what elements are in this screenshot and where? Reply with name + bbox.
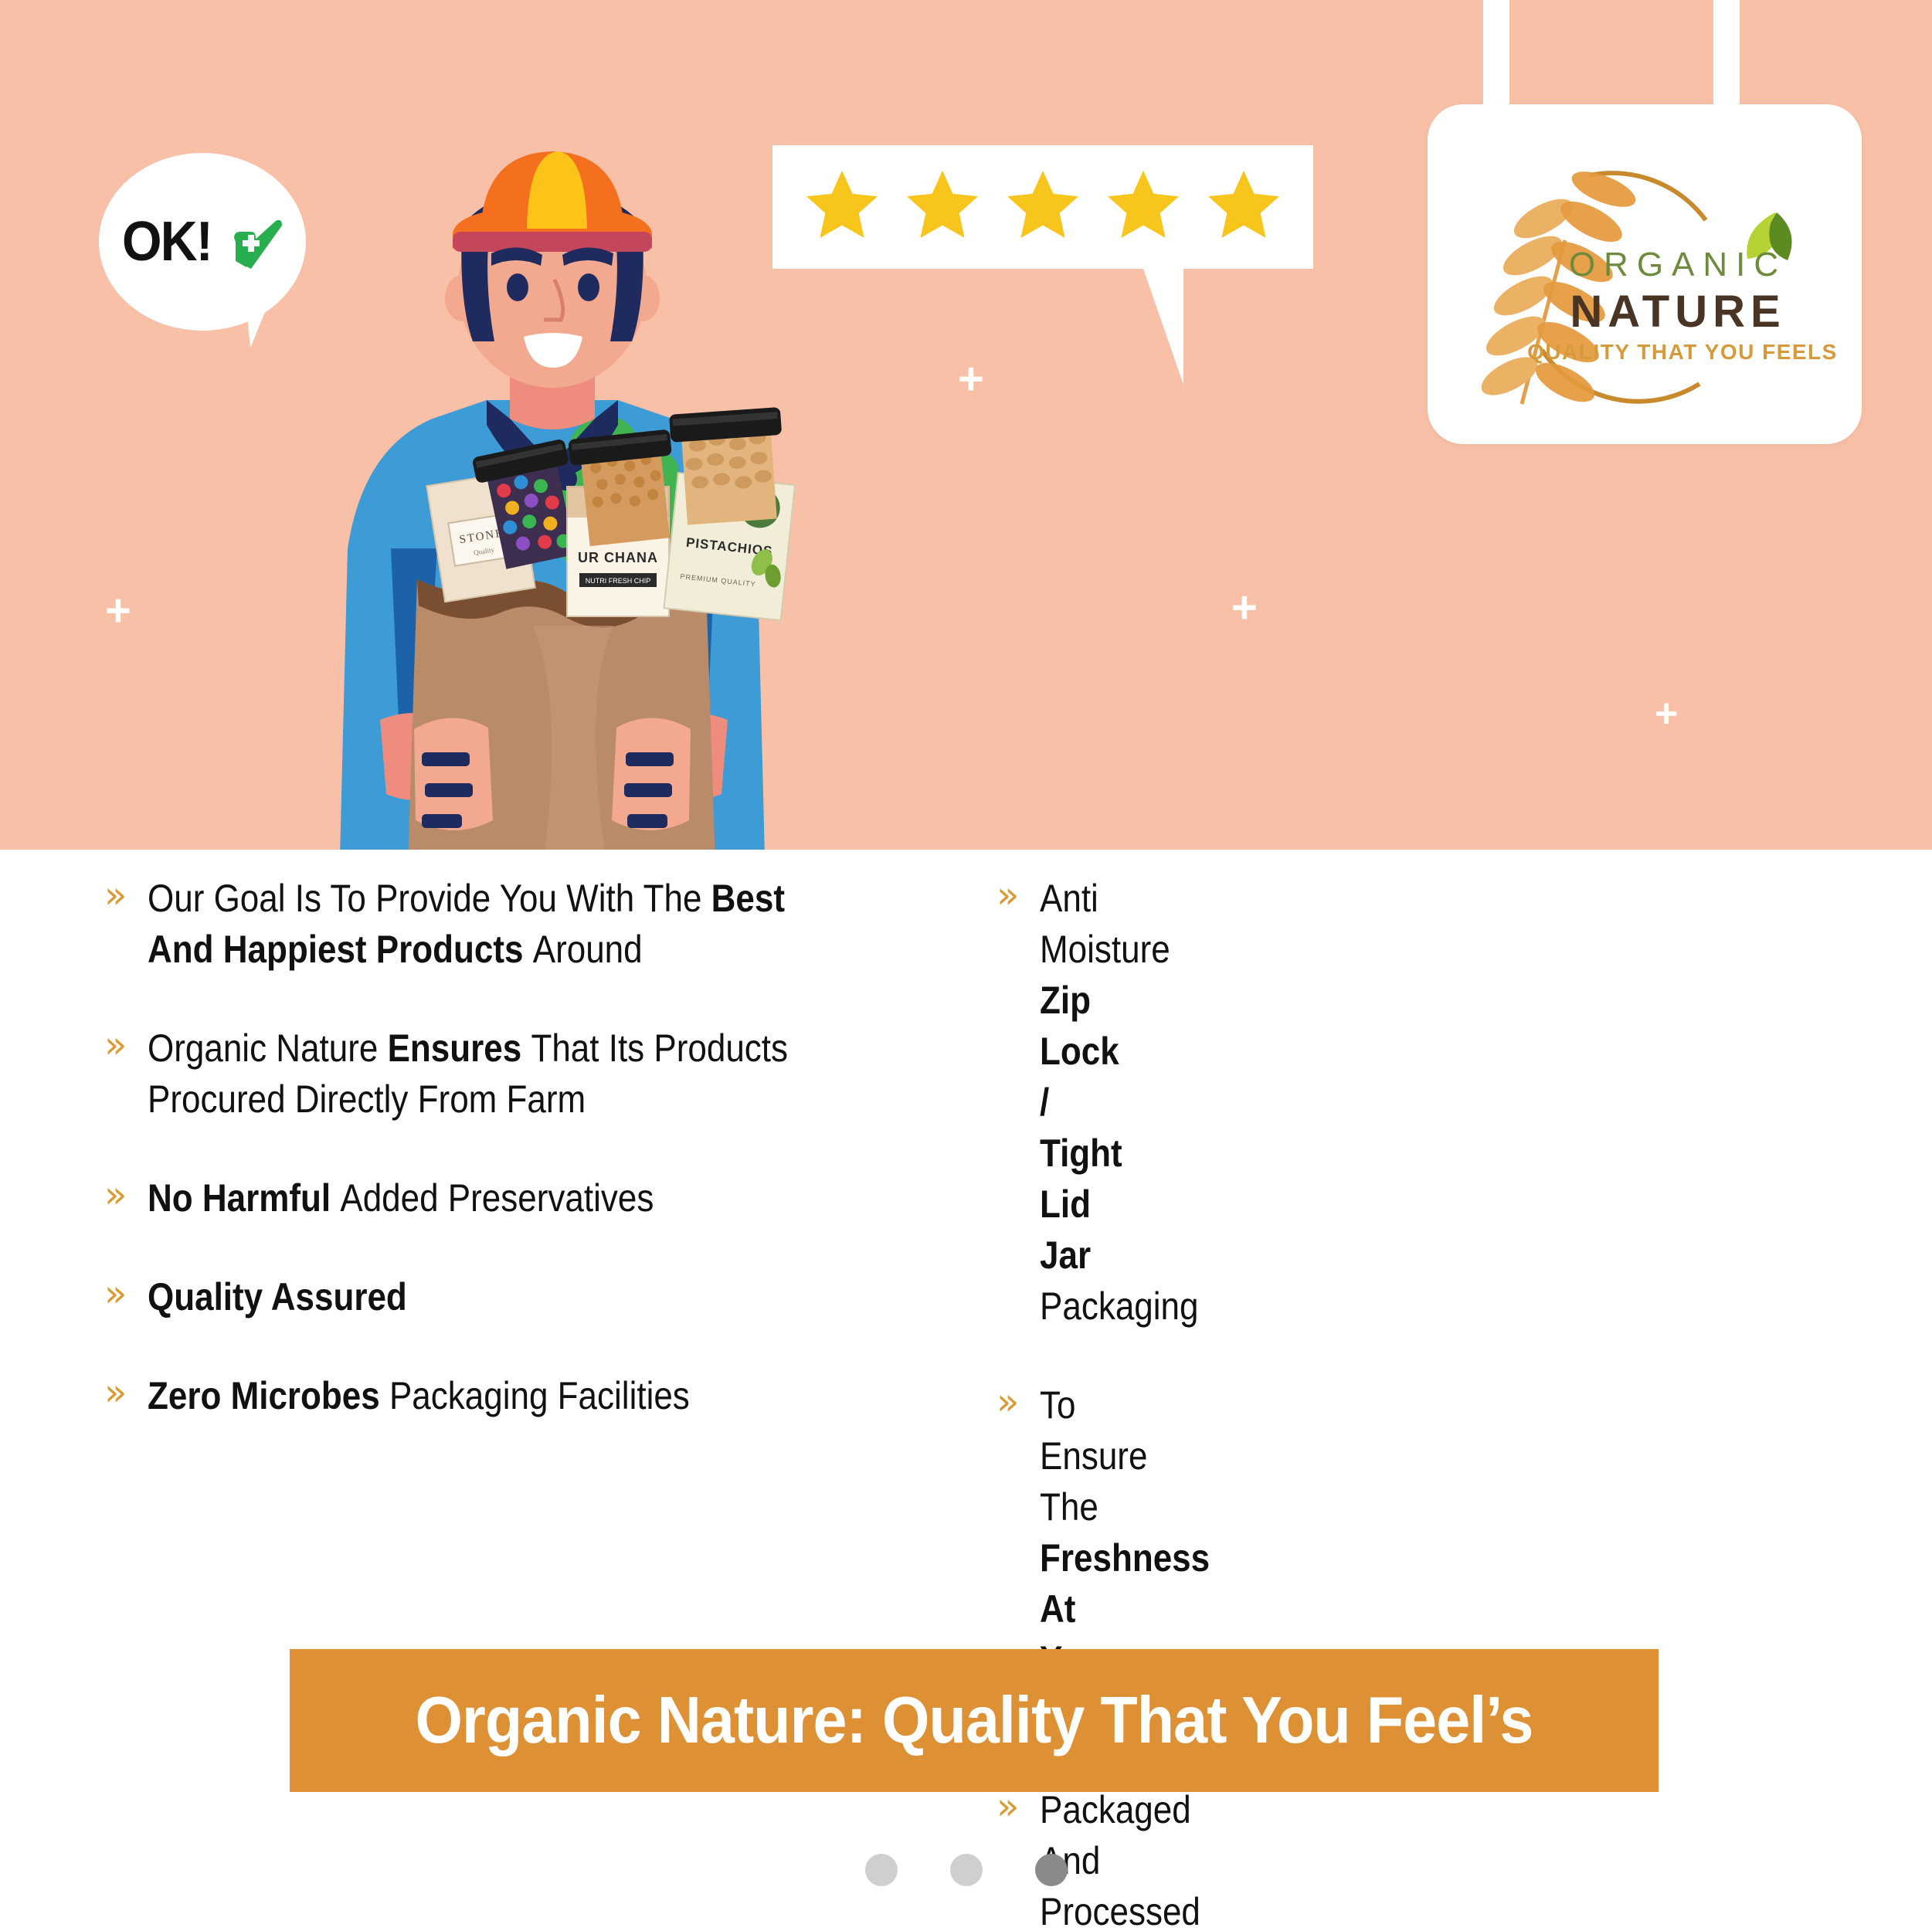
svg-text:QUALITY THAT YOU FEELS: QUALITY THAT YOU FEELS xyxy=(1527,340,1838,364)
feature-bullet-text: Quality Assured xyxy=(148,1271,806,1322)
chevron-right-double-icon: » xyxy=(997,1380,1040,1423)
feature-bullet-plain: Packaging xyxy=(1040,1285,1198,1328)
feature-bullet: »Quality Assured xyxy=(104,1271,896,1322)
feature-bullet-text: Our Goal Is To Provide You With The Best… xyxy=(148,873,806,975)
carousel-dot-3[interactable] xyxy=(1035,1854,1068,1886)
tagline-banner: Organic Nature: Quality That You Feel’s xyxy=(290,1649,1659,1792)
feature-bullet-emphasis: Zero Microbes xyxy=(148,1374,389,1417)
svg-text:ORGANIC: ORGANIC xyxy=(1569,246,1787,283)
chevron-right-double-icon: » xyxy=(997,873,1040,916)
svg-text:NUTRI FRESH CHIP: NUTRI FRESH CHIP xyxy=(586,577,651,585)
star-icon xyxy=(901,165,984,249)
carousel-dot-2[interactable] xyxy=(950,1854,983,1886)
character-illustration: STONE Quality xyxy=(255,116,842,850)
feature-bullet-plain: Packaging Facilities xyxy=(389,1374,690,1417)
organic-nature-logo-card: ORGANIC NATURE QUALITY THAT YOU FEELS xyxy=(1428,104,1862,444)
feature-bullet: »Zero Microbes Packaging Facilities xyxy=(104,1370,896,1421)
feature-bullet-emphasis: Zip Lock / Tight Lid Jar xyxy=(1040,979,1122,1277)
svg-text:UR CHANA: UR CHANA xyxy=(578,550,658,565)
product-feature-infographic: + + + + OK! xyxy=(0,0,1932,1931)
feature-bullet-text: Organic Nature Ensures That Its Products… xyxy=(148,1023,806,1125)
ok-label: OK! xyxy=(122,210,212,273)
feature-bullet: »Our Goal Is To Provide You With The Bes… xyxy=(104,873,896,975)
star-bubble-tail xyxy=(1143,269,1183,385)
star-icon xyxy=(1202,165,1285,249)
feature-bullet-emphasis: Quality Assured xyxy=(148,1275,407,1318)
carousel-pagination[interactable] xyxy=(0,1854,1932,1886)
decor-plus-icon: + xyxy=(958,357,984,402)
feature-bullet-plain: Added Preservatives xyxy=(340,1176,654,1220)
tagline-banner-text: Organic Nature: Quality That You Feel’s xyxy=(416,1683,1533,1759)
decor-plus-icon: + xyxy=(1655,694,1678,734)
star-rating-bubble xyxy=(772,145,1313,269)
hero-section: + + + + OK! xyxy=(0,0,1932,850)
feature-bullet-plain: Anti Moisture xyxy=(1040,877,1170,971)
feature-bullet-plain: To Ensure The xyxy=(1040,1383,1147,1529)
feature-bullet: »No Harmful Added Preservatives xyxy=(104,1173,896,1223)
decor-plus-icon: + xyxy=(105,589,131,633)
feature-bullet-text: Zero Microbes Packaging Facilities xyxy=(148,1370,806,1421)
organic-nature-logo: ORGANIC NATURE QUALITY THAT YOU FEELS xyxy=(1428,104,1862,444)
carousel-dot-1[interactable] xyxy=(865,1854,898,1886)
star-icon xyxy=(1102,165,1185,249)
feature-bullet-plain: Around xyxy=(533,928,643,971)
feature-bullet-plain: Organic Nature xyxy=(148,1027,388,1070)
feature-bullet-text: No Harmful Added Preservatives xyxy=(148,1173,806,1223)
feature-bullet-emphasis: No Harmful xyxy=(148,1176,340,1220)
svg-text:NATURE: NATURE xyxy=(1570,287,1785,337)
feature-bullet: »Organic Nature Ensures That Its Product… xyxy=(104,1023,896,1125)
feature-bullet-plain: Our Goal Is To Provide You With The xyxy=(148,877,711,920)
decor-plus-icon: + xyxy=(1231,585,1258,630)
feature-bullet-emphasis: Ensures xyxy=(388,1027,531,1070)
star-icon xyxy=(1001,165,1085,249)
